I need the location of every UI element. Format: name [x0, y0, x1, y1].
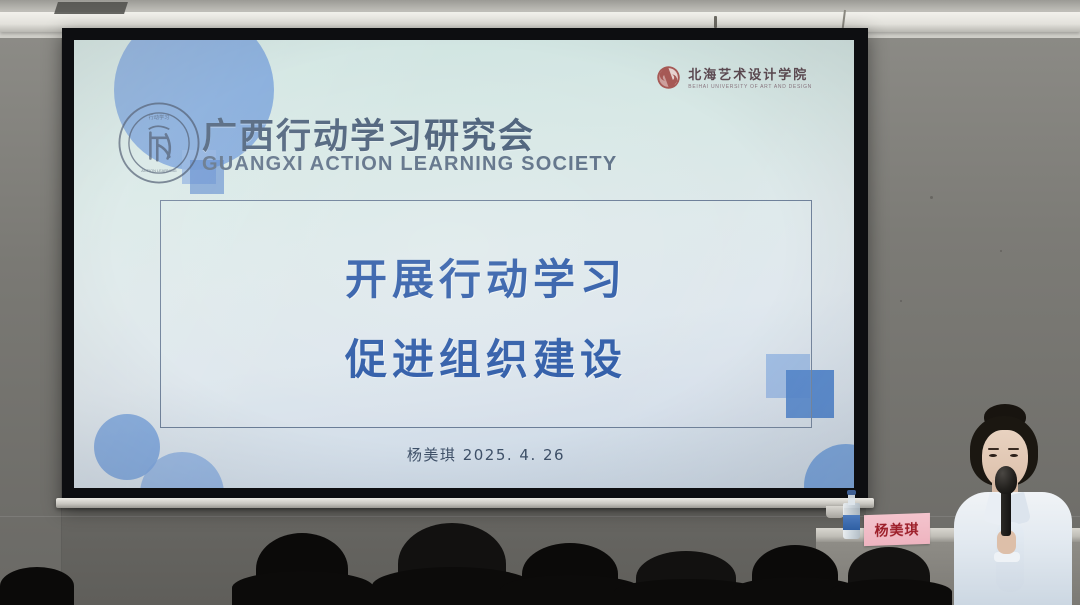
name-placard: 杨美琪 — [864, 513, 930, 546]
svg-text:行动学习: 行动学习 — [149, 113, 170, 121]
wall-panel-left — [0, 38, 62, 605]
headline-line-2: 促进组织建设 — [160, 326, 812, 387]
society-title-en: GUANGXI ACTION LEARNING SOCIETY — [202, 153, 617, 176]
audience-shoulders — [232, 571, 374, 605]
bottle-label — [843, 515, 860, 530]
wall-speck — [930, 196, 933, 199]
wall-speck — [1000, 250, 1002, 252]
lecture-hall-scene: 行动学习 ACTION LEARNING 广西行动学习研究会 GUANGXI A… — [0, 0, 1080, 605]
presentation-slide: 行动学习 ACTION LEARNING 广西行动学习研究会 GUANGXI A… — [74, 40, 854, 488]
microphone-head — [995, 466, 1017, 494]
presenter-byline: 杨美琪 2025. 4. 26 — [160, 444, 812, 465]
audience-head — [0, 567, 74, 605]
audience-shoulders — [830, 579, 952, 605]
presenter-brow-right — [1008, 448, 1019, 450]
circular-seal-icon: 行动学习 ACTION LEARNING — [116, 100, 202, 186]
ceiling-hook — [714, 16, 717, 28]
water-bottle — [843, 493, 860, 539]
presenter-brow-left — [988, 448, 999, 450]
wall-speck — [900, 300, 902, 302]
university-logo: 北海艺术设计学院 BEIHAI UNIVERSITY OF ART AND DE… — [656, 64, 812, 90]
swirl-logo-icon — [656, 65, 681, 90]
screen-bottom-rail — [56, 498, 874, 508]
presenter-eye-left — [989, 454, 997, 457]
presenter-figure — [948, 404, 1080, 605]
headline-line-1: 开展行动学习 — [160, 246, 812, 307]
content-frame — [160, 200, 812, 428]
screen-rail-end — [826, 506, 844, 518]
bottle-cap — [847, 490, 856, 495]
name-placard-text: 杨美琪 — [875, 519, 920, 541]
presenter-eye-right — [1010, 454, 1018, 457]
university-name-cn: 北海艺术设计学院 — [688, 64, 812, 83]
svg-text:ACTION LEARNING: ACTION LEARNING — [141, 168, 176, 173]
screen-mount-bracket — [54, 2, 128, 14]
university-name-en: BEIHAI UNIVERSITY OF ART AND DESIGN — [688, 84, 812, 90]
society-title-cn: 广西行动学习研究会 — [202, 108, 535, 159]
projector-screen: 行动学习 ACTION LEARNING 广西行动学习研究会 GUANGXI A… — [62, 28, 868, 504]
microphone-body — [1001, 490, 1011, 536]
